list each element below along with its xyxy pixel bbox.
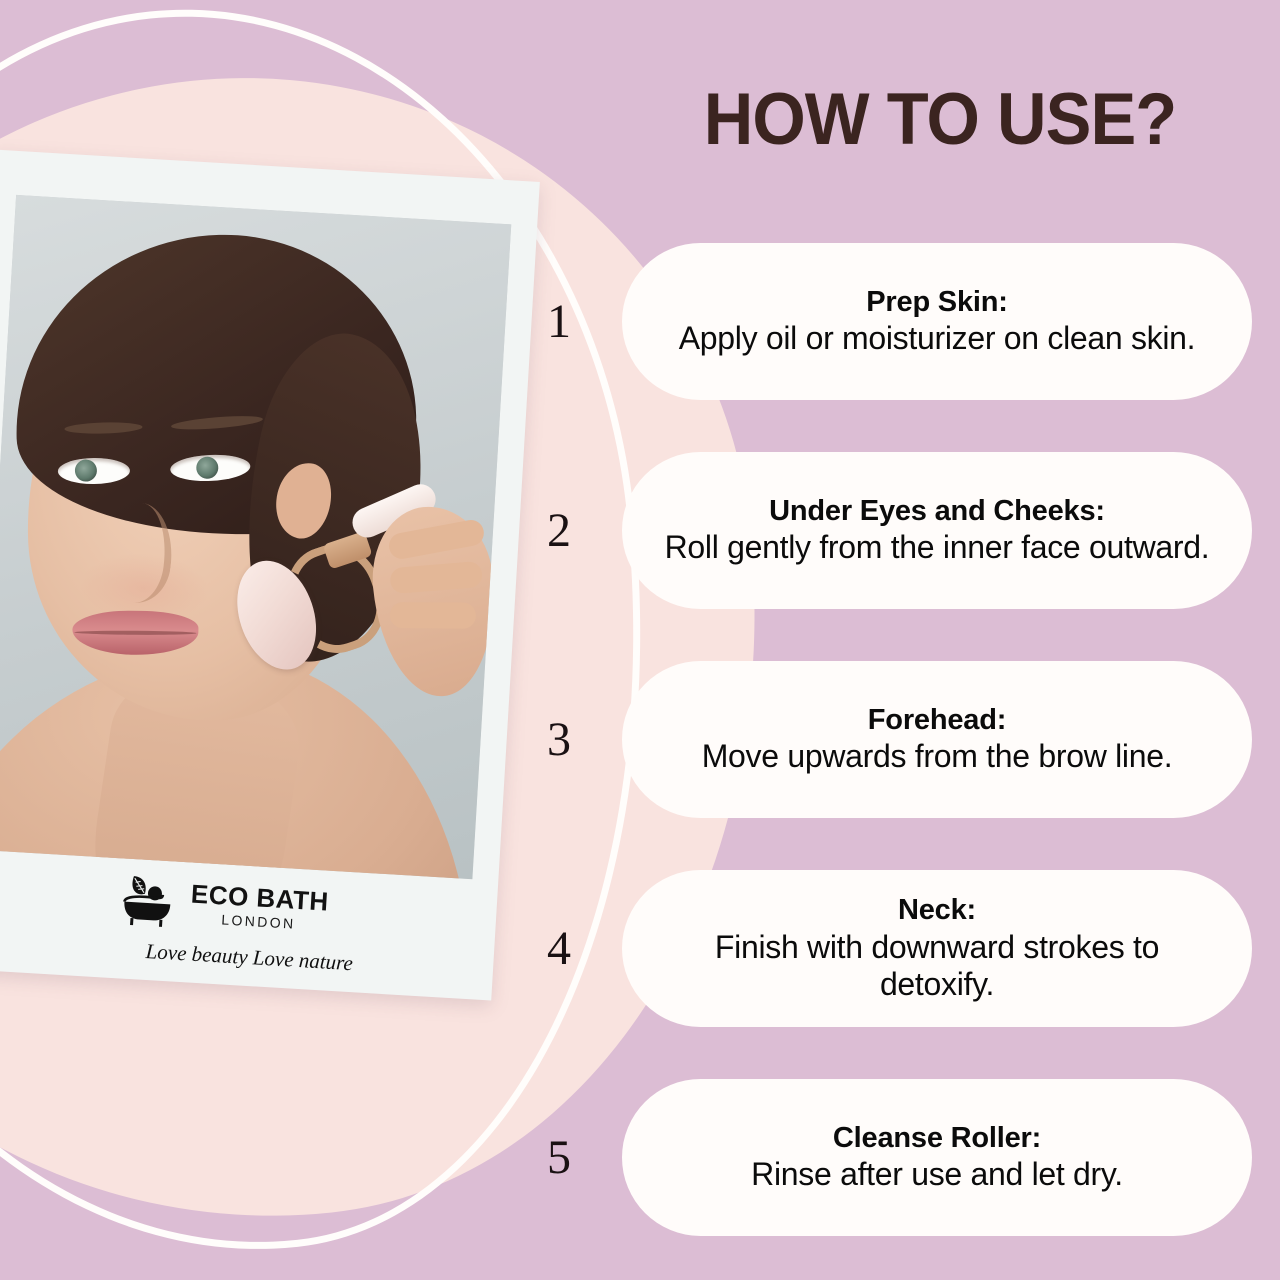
step-item-1: 1 Prep Skin: Apply oil or moisturizer on… <box>0 243 1280 400</box>
step-number-4: 4 <box>536 925 582 973</box>
step-number-3: 3 <box>536 716 582 764</box>
step-body-1: Apply oil or moisturizer on clean skin. <box>679 320 1196 357</box>
step-body-5: Rinse after use and let dry. <box>751 1156 1123 1193</box>
step-number-5: 5 <box>536 1134 582 1182</box>
how-to-use-poster: ECO BATH LONDON Love beauty Love nature … <box>0 0 1280 1280</box>
step-item-4: 4 Neck: Finish with downward strokes to … <box>0 870 1280 1027</box>
step-number-1: 1 <box>536 298 582 346</box>
step-heading-1: Prep Skin: <box>866 286 1007 318</box>
step-card-4[interactable]: Neck: Finish with downward strokes to de… <box>622 870 1252 1027</box>
step-heading-4: Neck: <box>898 894 976 926</box>
step-card-2[interactable]: Under Eyes and Cheeks: Roll gently from … <box>622 452 1252 609</box>
step-card-1[interactable]: Prep Skin: Apply oil or moisturizer on c… <box>622 243 1252 400</box>
step-item-3: 3 Forehead: Move upwards from the brow l… <box>0 661 1280 818</box>
step-card-3[interactable]: Forehead: Move upwards from the brow lin… <box>622 661 1252 818</box>
step-heading-2: Under Eyes and Cheeks: <box>769 495 1105 527</box>
step-card-5[interactable]: Cleanse Roller: Rinse after use and let … <box>622 1079 1252 1236</box>
step-number-2: 2 <box>536 507 582 555</box>
step-body-2: Roll gently from the inner face outward. <box>665 529 1210 566</box>
steps-list: 1 Prep Skin: Apply oil or moisturizer on… <box>0 243 1280 1280</box>
step-item-2: 2 Under Eyes and Cheeks: Roll gently fro… <box>0 452 1280 609</box>
step-body-3: Move upwards from the brow line. <box>702 738 1173 775</box>
step-heading-5: Cleanse Roller: <box>833 1122 1041 1154</box>
step-body-4: Finish with downward strokes to detoxify… <box>660 929 1214 1003</box>
step-heading-3: Forehead: <box>868 704 1006 736</box>
page-title: HOW TO USE? <box>649 78 1232 161</box>
step-item-5: 5 Cleanse Roller: Rinse after use and le… <box>0 1079 1280 1236</box>
